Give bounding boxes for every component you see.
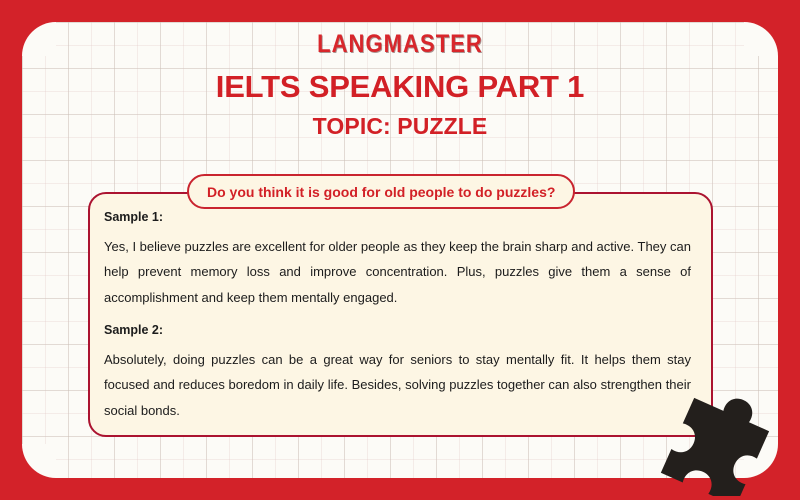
answer-card-body: Sample 1: Yes, I believe puzzles are exc…: [90, 194, 711, 433]
poster-canvas: LANGMASTER IELTS SPEAKING PART 1 TOPIC: …: [0, 0, 800, 500]
question-banner: Do you think it is good for old people t…: [187, 174, 575, 209]
sample-2-label: Sample 2:: [104, 323, 691, 338]
sample-1-label: Sample 1:: [104, 210, 691, 225]
question-text: Do you think it is good for old people t…: [207, 185, 555, 199]
puzzle-piece-icon: [648, 386, 773, 496]
answer-card: Sample 1: Yes, I believe puzzles are exc…: [88, 192, 713, 437]
page-subtitle: TOPIC: PUZZLE: [0, 114, 800, 140]
page-title: IELTS SPEAKING PART 1: [0, 70, 800, 105]
langmaster-logo: LANGMASTER: [48, 32, 752, 57]
sample-2-text: Absolutely, doing puzzles can be a great…: [104, 347, 691, 423]
sample-1-text: Yes, I believe puzzles are excellent for…: [104, 234, 691, 310]
